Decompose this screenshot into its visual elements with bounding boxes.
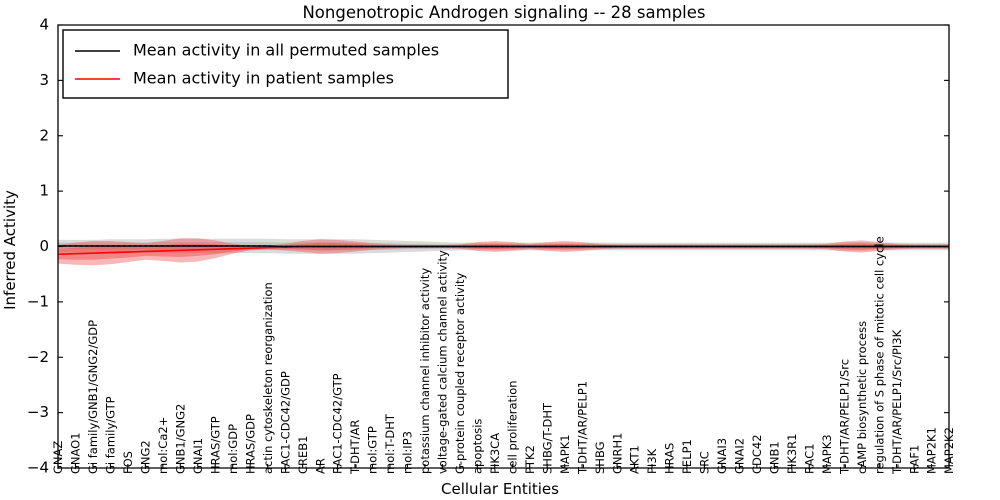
x-tick-label: MAP2K2 [942, 427, 956, 474]
x-tick-label: PIK3CA [488, 433, 502, 474]
x-tick-label: GNB1/GNG2 [173, 404, 187, 474]
x-tick-label: regulation of S phase of mitotic cell cy… [872, 236, 886, 474]
x-tick-label: cell proliferation [505, 380, 519, 474]
x-tick-label: GNRH1 [610, 433, 624, 474]
x-tick-label: RAF1 [907, 445, 921, 474]
x-tick-label: apoptosis [470, 419, 484, 474]
x-tick-label: mol:Ca2+ [156, 417, 170, 474]
x-tick-label: T-DHT/AR/PELP1/Src [837, 359, 851, 475]
x-tick-label: FOS [121, 451, 135, 474]
x-tick-label: mol:GTP [366, 426, 380, 474]
chart-title: Nongenotropic Androgen signaling -- 28 s… [302, 3, 705, 22]
x-tick-label: GNAI2 [733, 438, 747, 474]
x-tick-label: GNAZ [51, 441, 65, 474]
x-tick-label: GNAI1 [191, 438, 205, 474]
x-tick-label: AR [313, 458, 327, 474]
legend-label-permuted: Mean activity in all permuted samples [133, 41, 439, 60]
x-tick-label: PTK2 [523, 445, 537, 474]
x-tick-label: GNG2 [139, 440, 153, 474]
x-tick-label: mol:T-DHT [383, 413, 397, 474]
x-tick-label: GNB1 [767, 441, 781, 474]
x-tick-label: SHBG/T-DHT [540, 402, 554, 474]
x-tick-label: AKT1 [628, 445, 642, 474]
x-tick-label: PIK3R1 [785, 434, 799, 475]
x-tick-label: HRAS/GDP [243, 414, 257, 474]
x-tick-label: HRAS [663, 443, 677, 474]
x-tick-label: SRC [698, 451, 712, 474]
x-tick-label: RAC1-CDC42/GDP [278, 371, 292, 474]
x-tick-label: GNAI3 [715, 438, 729, 474]
x-tick-label: MAPK1 [558, 434, 572, 474]
y-axis-title: Inferred Activity [1, 190, 19, 310]
chart-figure: Nongenotropic Androgen signaling -- 28 s… [0, 0, 1000, 500]
y-tick-label: −1 [27, 292, 49, 310]
x-tick-label: CREB1 [296, 436, 310, 475]
x-tick-label: MAP2K1 [925, 427, 939, 474]
x-tick-label: RAC1 [802, 443, 816, 474]
x-tick-label: T-DHT/AR/PELP1/Src/PI3K [890, 329, 904, 475]
x-tick-label: PI3K [645, 448, 659, 474]
x-tick-label: MAPK3 [820, 434, 834, 474]
chart-legend: Mean activity in all permuted samples Me… [63, 30, 508, 98]
chart-canvas: Nongenotropic Androgen signaling -- 28 s… [0, 0, 1000, 500]
x-tick-label: T-DHT/AR [348, 420, 362, 475]
x-tick-label: T-DHT/AR/PELP1 [575, 381, 589, 475]
y-tick-label: 0 [39, 237, 49, 255]
y-tick-label: 4 [39, 16, 49, 34]
x-tick-label: GNAO1 [69, 432, 83, 474]
legend-label-patient: Mean activity in patient samples [133, 69, 394, 88]
y-tick-label: 2 [39, 126, 49, 144]
x-tick-label: PELP1 [680, 439, 694, 474]
y-tick-label: −2 [27, 348, 49, 366]
x-tick-label: mol:IP3 [401, 431, 415, 474]
y-tick-label: −3 [27, 403, 49, 421]
x-tick-label: cAMP biosynthetic process [855, 321, 869, 474]
x-tick-label: CDC42 [750, 434, 764, 474]
x-axis-title: Cellular Entities [441, 480, 559, 498]
x-tick-label: voltage-gated calcium channel activity [436, 250, 450, 474]
y-tick-label: 3 [39, 71, 49, 89]
y-tick-label: −4 [27, 459, 49, 477]
x-tick-label: RAC1-CDC42/GTP [331, 373, 345, 474]
x-tick-label: HRAS/GTP [208, 416, 222, 474]
x-tick-label: actin cytoskeleton reorganization [261, 282, 275, 474]
x-tick-label: Gi family/GNB1/GNG2/GDP [86, 320, 100, 474]
x-tick-label: G-protein coupled receptor activity [453, 272, 467, 474]
x-tick-label: Gi family/GTP [104, 396, 118, 474]
x-tick-label: potassium channel inhibitor activity [418, 268, 432, 474]
x-tick-label: SHBG [593, 441, 607, 474]
y-tick-label: 1 [39, 182, 49, 200]
x-tick-label: mol:GDP [226, 424, 240, 474]
